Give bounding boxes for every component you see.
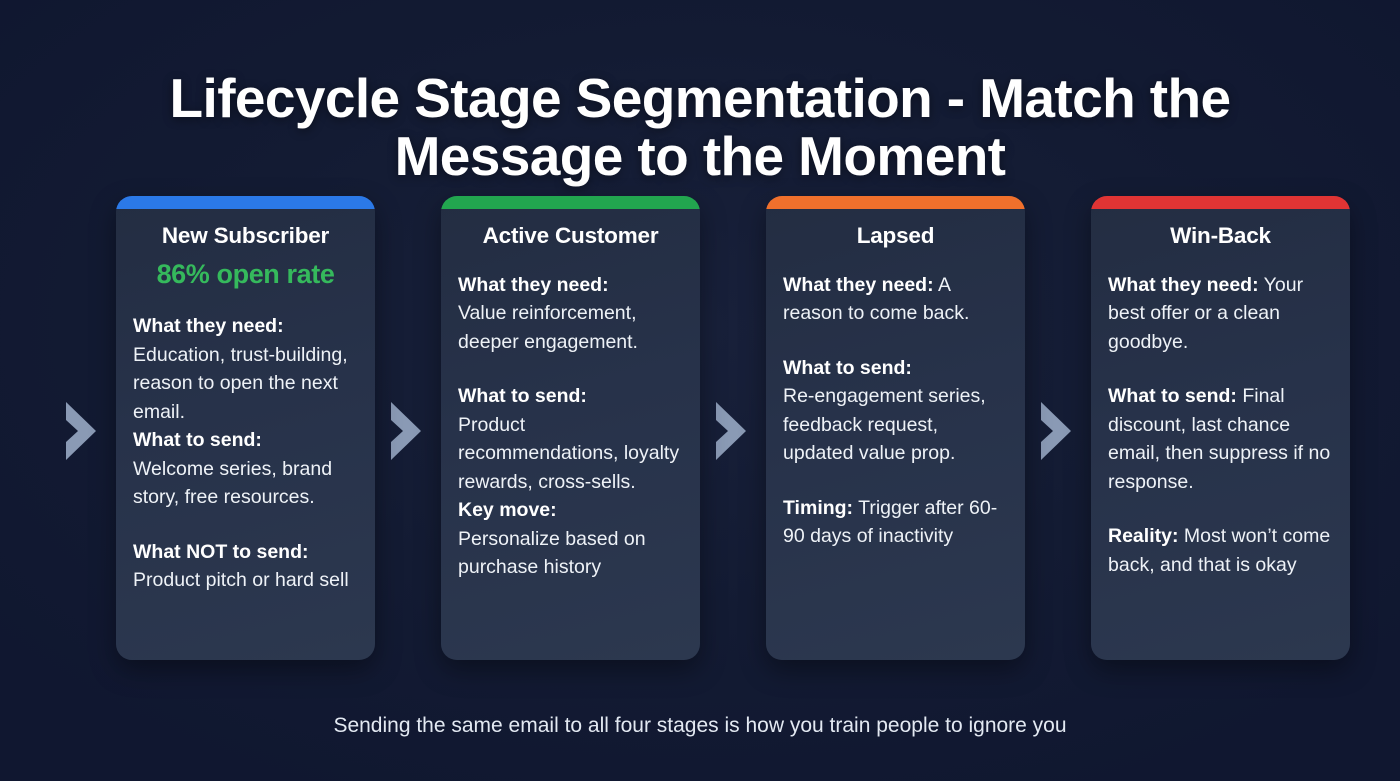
stage-detail-block: What to send: Final discount, last chanc…: [1108, 382, 1333, 496]
stage-detail-label: What to send:: [458, 382, 683, 410]
stage-detail-text: Product recommendations, loyalty rewards…: [458, 414, 679, 493]
chevron-right-icon: [1025, 196, 1091, 666]
stage-detail-block: What to send:Re-engagement series, feedb…: [783, 354, 1008, 468]
stage-detail-block: Key move:Personalize based on purchase h…: [458, 496, 683, 581]
stage-card[interactable]: LapsedWhat they need: A reason to come b…: [766, 196, 1025, 660]
stage-detail-block: What they need: Your best offer or a cle…: [1108, 271, 1333, 356]
stage-card-title: Win-Back: [1108, 223, 1333, 249]
stage-detail-label: What to send:: [133, 426, 358, 454]
stage-accent-bar: [116, 196, 375, 209]
stage-card-body: New Subscriber86% open rateWhat they nee…: [116, 209, 375, 594]
chevron-right-icon: [50, 196, 116, 666]
stage-detail-text: Education, trust-building, reason to ope…: [133, 344, 348, 423]
stage-detail-label: Key move:: [458, 496, 683, 524]
stage-card[interactable]: Active CustomerWhat they need:Value rein…: [441, 196, 700, 660]
stage-card-body: Active CustomerWhat they need:Value rein…: [441, 209, 700, 582]
stage-detail-label: What they need:: [458, 271, 683, 299]
stage-detail-block: What they need:Education, trust-building…: [133, 312, 358, 426]
stage-detail-text: Re-engagement series, feedback request, …: [783, 385, 986, 464]
stage-detail-block: Reality: Most won’t come back, and that …: [1108, 522, 1333, 579]
stage-card-body: Win-BackWhat they need: Your best offer …: [1091, 209, 1350, 579]
stage-card[interactable]: Win-BackWhat they need: Your best offer …: [1091, 196, 1350, 660]
stage-detail-label: Reality:: [1108, 525, 1178, 547]
stage-detail-text: Product pitch or hard sell: [133, 569, 349, 591]
lifecycle-stage-cards: New Subscriber86% open rateWhat they nee…: [0, 196, 1400, 666]
stage-accent-bar: [766, 196, 1025, 209]
stage-detail-list: What they need: Your best offer or a cle…: [1108, 271, 1333, 579]
chevron-right-icon: [700, 196, 766, 666]
stage-detail-label: What NOT to send:: [133, 538, 358, 566]
stage-detail-block: What they need:Value reinforcement, deep…: [458, 271, 683, 356]
stage-detail-label: What they need:: [1108, 274, 1259, 296]
stage-detail-list: What they need:Value reinforcement, deep…: [458, 271, 683, 582]
stage-detail-text: Personalize based on purchase history: [458, 528, 646, 578]
stage-card-title: Lapsed: [783, 223, 1008, 249]
stage-stat: 86% open rate: [133, 258, 358, 290]
stage-detail-block: What NOT to send:Product pitch or hard s…: [133, 538, 358, 595]
stage-card-body: LapsedWhat they need: A reason to come b…: [766, 209, 1025, 551]
page-title: Lifecycle Stage Segmentation - Match the…: [0, 69, 1400, 186]
footer-caption: Sending the same email to all four stage…: [0, 712, 1400, 739]
stage-detail-label: What to send:: [783, 354, 1008, 382]
infographic-canvas: Lifecycle Stage Segmentation - Match the…: [0, 0, 1400, 781]
stage-detail-block: What to send:Product recommendations, lo…: [458, 382, 683, 496]
stage-accent-bar: [441, 196, 700, 209]
stage-card[interactable]: New Subscriber86% open rateWhat they nee…: [116, 196, 375, 660]
stage-detail-label: What they need:: [783, 274, 934, 296]
stage-detail-label: What to send:: [1108, 385, 1237, 407]
stage-detail-block: Timing: Trigger after 60-90 days of inac…: [783, 494, 1008, 551]
stage-detail-label: What they need:: [133, 312, 358, 340]
stage-card-title: New Subscriber: [133, 223, 358, 249]
stage-accent-bar: [1091, 196, 1350, 209]
stage-card-title: Active Customer: [458, 223, 683, 249]
stage-detail-label: Timing:: [783, 497, 853, 519]
stage-detail-text: Value reinforcement, deeper engagement.: [458, 302, 638, 352]
stage-detail-block: What they need: A reason to come back.: [783, 271, 1008, 328]
stage-detail-list: What they need: A reason to come back.Wh…: [783, 271, 1008, 551]
chevron-right-icon: [375, 196, 441, 666]
stage-detail-text: Welcome series, brand story, free resour…: [133, 458, 332, 508]
stage-detail-block: What to send:Welcome series, brand story…: [133, 426, 358, 511]
stage-detail-list: What they need:Education, trust-building…: [133, 312, 358, 594]
